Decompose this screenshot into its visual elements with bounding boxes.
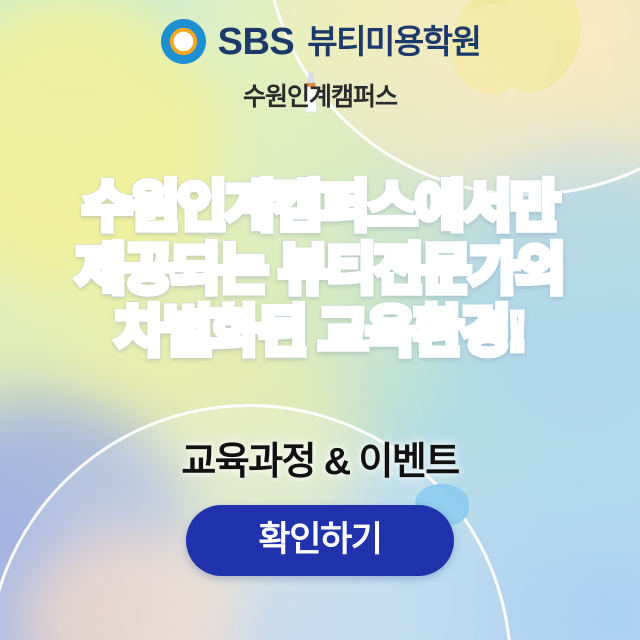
campus-name: 수원인계캠퍼스 (0, 77, 640, 113)
cta-container: 확인하기 (0, 505, 640, 576)
brand-latin-text: SBS (218, 23, 295, 61)
banner-header: SBS 뷰티미용학원 수원인계캠퍼스 (0, 18, 640, 113)
brand-korean-text: 뷰티미용학원 (307, 25, 480, 58)
promo-banner: SBS 뷰티미용학원 수원인계캠퍼스 수원인계캠퍼스에서만 제공되는 뷰티전문가… (0, 0, 640, 640)
sbs-circle-logo-icon (160, 18, 207, 65)
headline-block: 수원인계캠퍼스에서만 제공되는 뷰티전문가의 차별화된 교육환경! (0, 176, 640, 364)
confirm-button[interactable]: 확인하기 (186, 505, 454, 576)
headline-line-3: 차별화된 교육환경! (0, 301, 640, 364)
subline-text: 교육과정 & 이벤트 (0, 430, 640, 485)
brand-logo: SBS 뷰티미용학원 (0, 18, 640, 65)
headline-line-2: 제공되는 뷰티전문가의 (0, 239, 640, 302)
headline-line-1: 수원인계캠퍼스에서만 (0, 176, 640, 239)
